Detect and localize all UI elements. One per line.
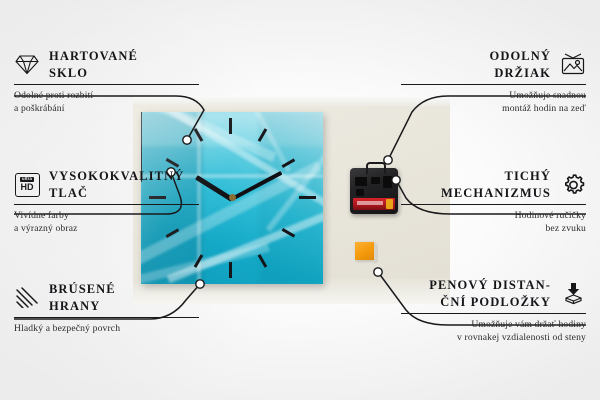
feature-header: PENOVÝ DISTAN-ČNÍ PODLOŽKY [401,277,586,310]
battery [353,198,395,210]
feature-title: TICHÝMECHANIZMUS [441,168,551,201]
stacked-pads-arrow-icon [560,282,586,306]
feature-durable-holder: ODOLNÝDRŽIAK Umožňuje snadnoumontáž hodi… [401,48,586,115]
feature-header: TICHÝMECHANIZMUS [401,168,586,201]
feature-title: VYSOKOKVALITNÝTLAČ [49,168,184,201]
foam-spacer-side [374,244,378,264]
clock-marker-3 [299,196,316,199]
feature-header: ultra HD VYSOKOKVALITNÝTLAČ [14,168,199,201]
feature-tempered-glass: HARTOVANÉSKLO Odolné proti rozbitía pošk… [14,48,199,115]
mechanism-detail [383,176,392,188]
feature-title: HARTOVANÉSKLO [49,48,138,81]
clock-center-pivot [229,194,236,201]
feature-silent-mechanism: TICHÝMECHANIZMUS Hodinové ručičkybez zvu… [401,168,586,235]
feature-divider [14,84,199,85]
feature-header: ODOLNÝDRŽIAK [401,48,586,81]
feature-description: Hodinové ručičkybez zvuku [401,209,586,235]
feature-title: BRÚSENÉHRANY [49,281,116,314]
feature-ground-edges: BRÚSENÉHRANY Hladký a bezpečný povrch [14,281,199,335]
feature-description: Umožňuje vám držať hodinyv rovnakej vzdi… [401,318,586,344]
diagonal-lines-icon [14,286,40,310]
mechanism-hanger-hook [366,162,386,174]
mechanism-detail [371,177,380,184]
battery-positive-terminal [386,199,393,209]
feature-description: Odolné proti rozbitía poškrábání [14,89,199,115]
feature-description: Hladký a bezpečný povrch [14,322,199,335]
mechanism-detail [356,189,364,196]
feature-title: PENOVÝ DISTAN-ČNÍ PODLOŽKY [429,277,551,310]
feature-foam-spacers: PENOVÝ DISTAN-ČNÍ PODLOŽKY Umožňuje vám … [401,277,586,344]
picture-frame-hanger-icon [560,53,586,77]
feature-description: Umožňuje snadnoumontáž hodin na zeď [401,89,586,115]
feature-description: Vivídne farbya výrazný obraz [14,209,199,235]
gear-icon [560,173,586,197]
feature-divider [14,317,199,318]
feature-divider [14,204,199,205]
ultra-hd-icon: ultra HD [14,173,40,197]
mechanism-detail [355,177,367,186]
infographic-root: HARTOVANÉSKLO Odolné proti rozbitía pošk… [0,0,600,400]
clock-marker-6 [229,262,232,278]
feature-divider [401,204,586,205]
clock-mechanism [350,168,398,214]
ultra-hd-badge: ultra HD [15,173,40,197]
feature-divider [401,84,586,85]
clock-marker-12 [229,118,232,134]
feature-high-quality-print: ultra HD VYSOKOKVALITNÝTLAČ Vivídne farb… [14,168,199,235]
feature-header: BRÚSENÉHRANY [14,281,199,314]
feature-divider [401,313,586,314]
diamond-icon [14,53,40,77]
feature-header: HARTOVANÉSKLO [14,48,199,81]
feature-title: ODOLNÝDRŽIAK [490,48,551,81]
battery-label [357,201,383,205]
foam-spacer-pad [355,242,374,260]
ultra-hd-badge-main: HD [21,183,34,192]
